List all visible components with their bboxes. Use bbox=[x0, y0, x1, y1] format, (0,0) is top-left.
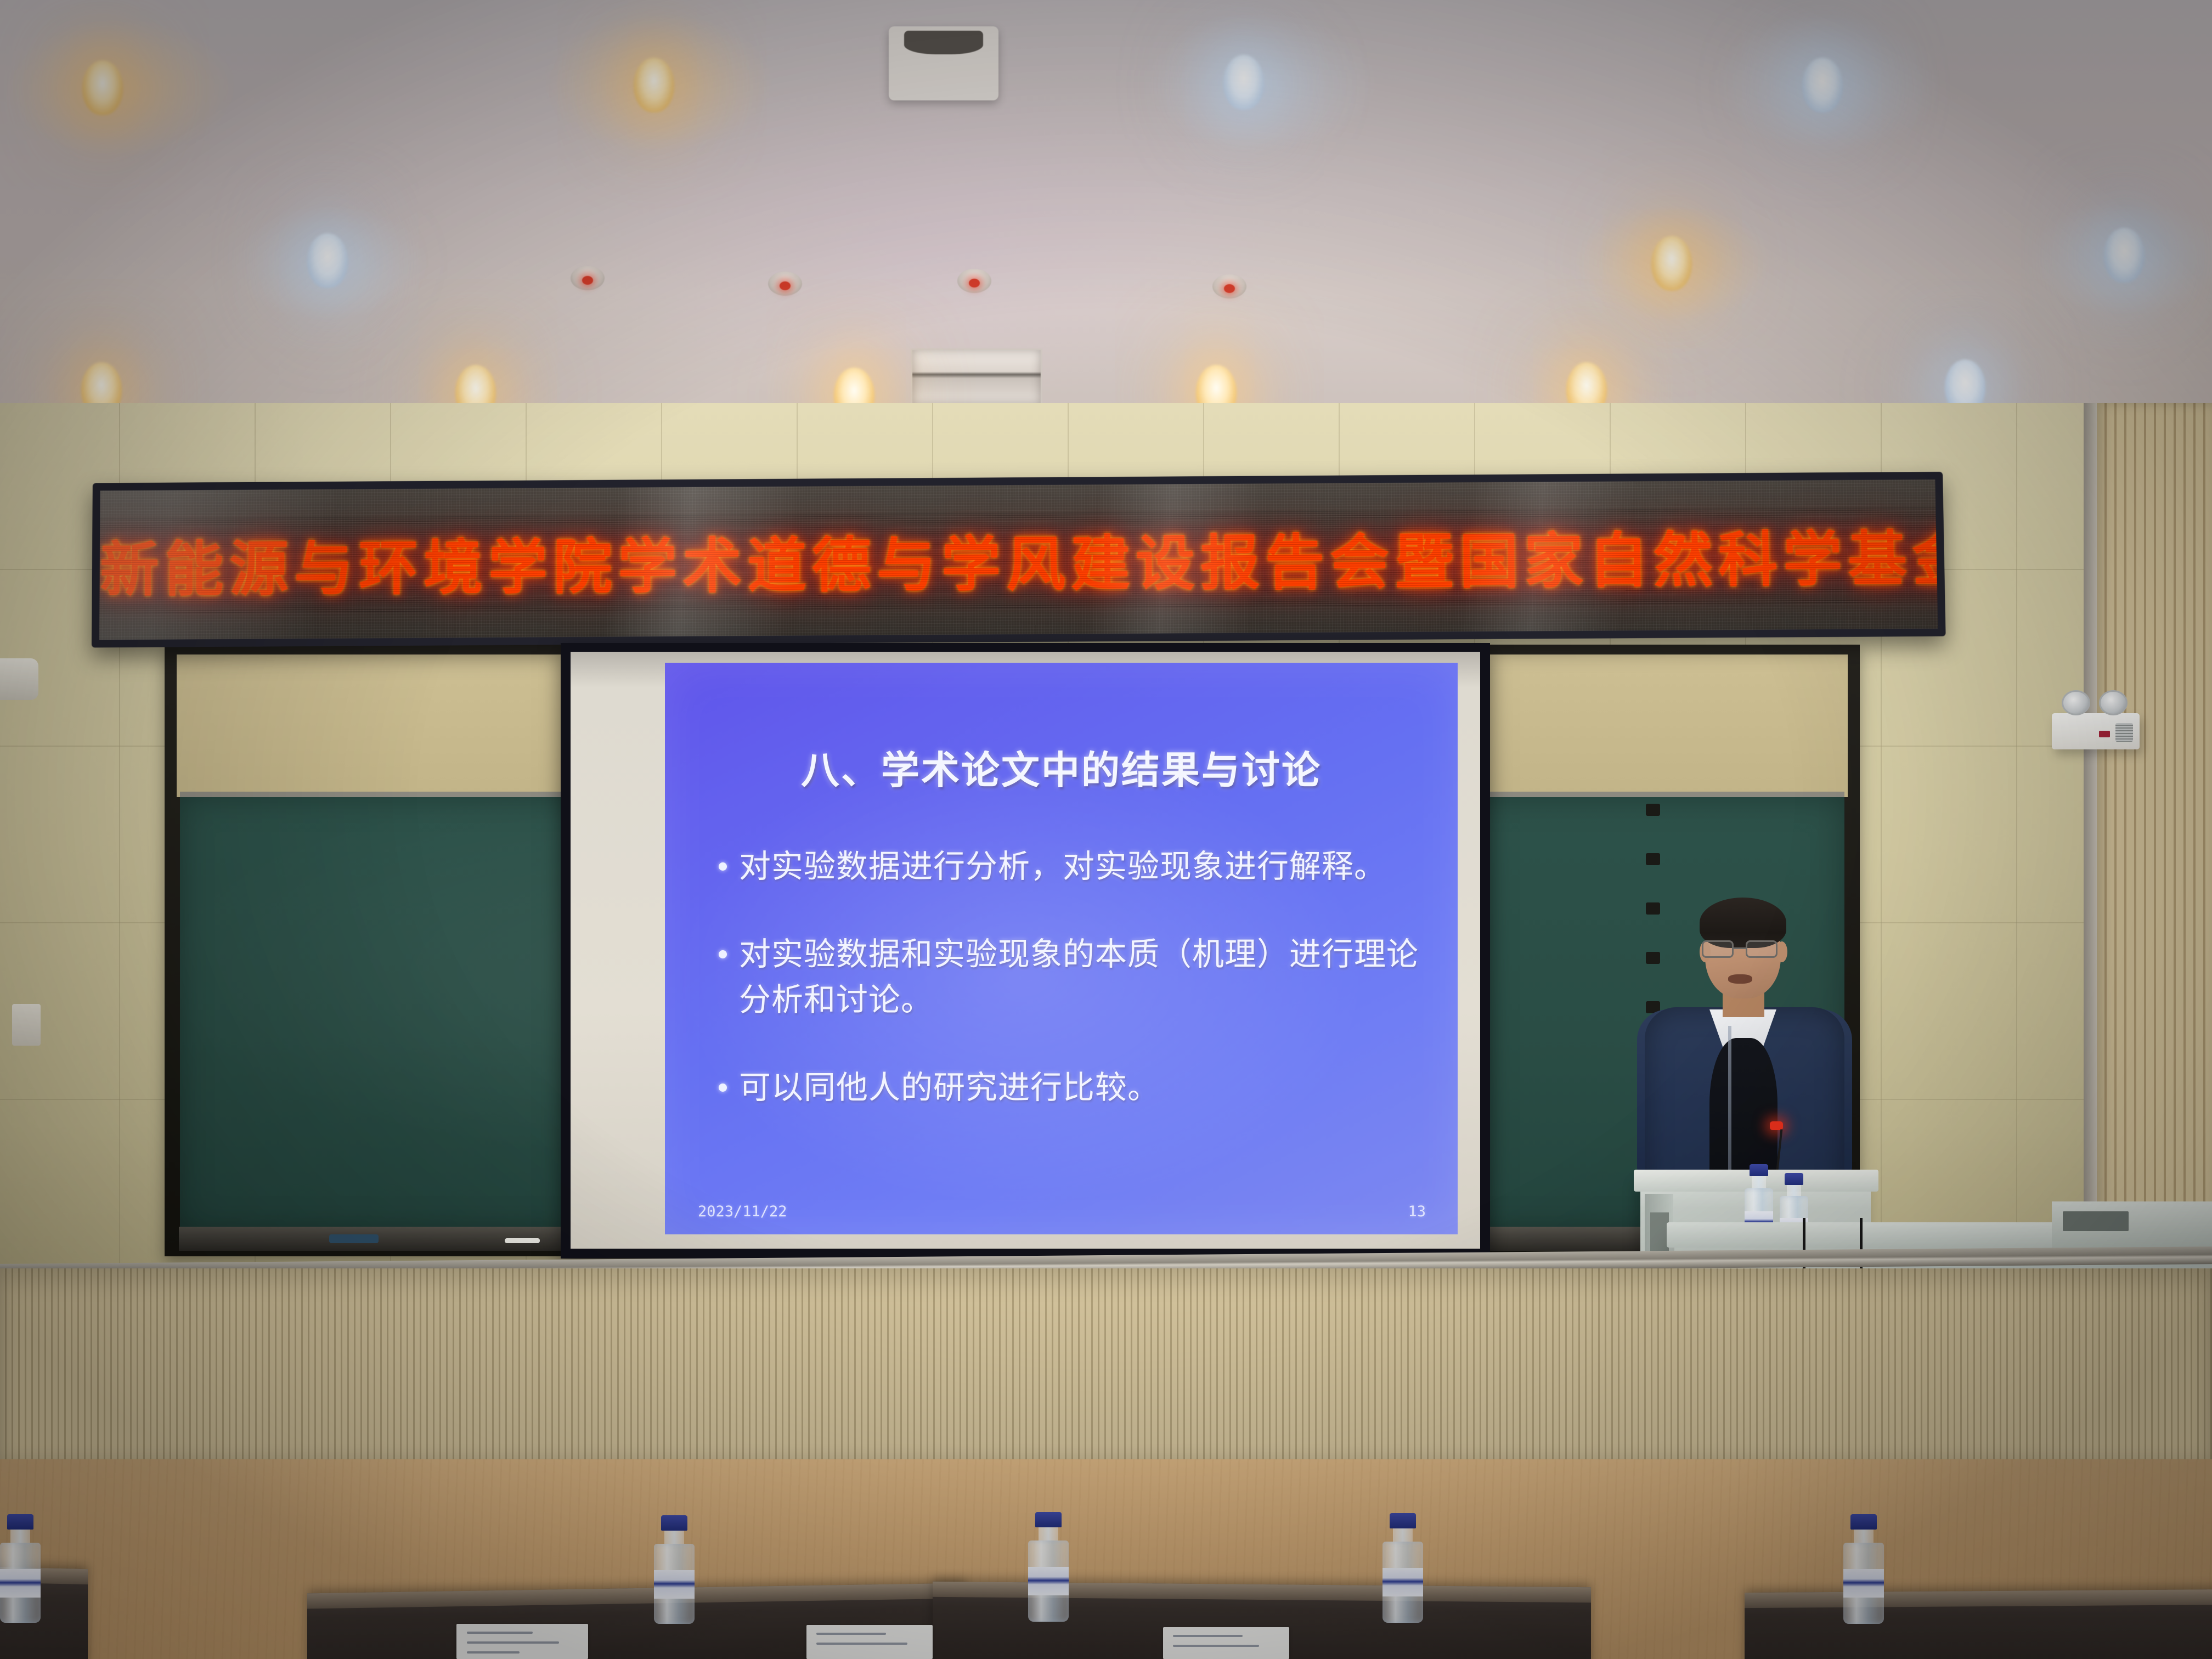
projector-sensor-box bbox=[889, 26, 998, 100]
wall-speaker bbox=[0, 658, 38, 700]
glasses-lens-right bbox=[1746, 940, 1778, 958]
slide-date: 2023/11/22 bbox=[698, 1203, 787, 1220]
glasses-bridge bbox=[1734, 947, 1746, 949]
bullet-dot-icon bbox=[719, 862, 727, 871]
paper-text-line bbox=[467, 1641, 559, 1644]
slide-title: 八、学术论文中的结果与讨论 bbox=[665, 740, 1458, 795]
bottle-neck bbox=[10, 1530, 30, 1543]
emergency-lamp-left-icon bbox=[2062, 690, 2090, 715]
bottle-cap bbox=[1785, 1173, 1803, 1185]
bottle-neck bbox=[1854, 1530, 1874, 1543]
downlight-cool bbox=[2104, 228, 2145, 283]
bottle-label bbox=[1028, 1567, 1069, 1595]
sensor-lens bbox=[904, 31, 983, 54]
led-panel-glare bbox=[99, 479, 1938, 640]
bottle-cap bbox=[1035, 1512, 1062, 1527]
chalk-eraser bbox=[329, 1234, 379, 1243]
downlight-cool bbox=[307, 233, 348, 288]
audience-desk bbox=[1745, 1589, 2212, 1659]
water-bottle bbox=[1027, 1512, 1070, 1622]
ceiling bbox=[0, 0, 2212, 407]
bottle-cap bbox=[1850, 1514, 1877, 1530]
downlight-warm bbox=[1651, 236, 1692, 291]
handout-paper bbox=[1163, 1627, 1289, 1659]
paper-text-line bbox=[1173, 1635, 1243, 1637]
led-scrolling-banner: 新能源与环境学院学术道德与学风建设报告会暨国家自然科学基金申报交流会 bbox=[92, 472, 1946, 648]
water-bottle bbox=[653, 1515, 696, 1624]
paper-text-line bbox=[816, 1643, 907, 1645]
slide-bullet-list: 对实验数据进行分析，对实验现象进行解释。 对实验数据和实验现象的本质（机理）进行… bbox=[714, 844, 1419, 1153]
bottle-neck bbox=[1393, 1528, 1413, 1542]
air-vent bbox=[911, 348, 1042, 406]
downlight-cool bbox=[1802, 58, 1843, 112]
presentation-slide: 八、学术论文中的结果与讨论 对实验数据进行分析，对实验现象进行解释。 对实验数据… bbox=[665, 663, 1458, 1234]
slide-footer: 2023/11/22 13 bbox=[698, 1203, 1426, 1220]
smoke-detector-icon bbox=[1212, 274, 1246, 298]
chalk-stick bbox=[505, 1238, 540, 1243]
list-item: 对实验数据进行分析，对实验现象进行解释。 bbox=[714, 844, 1419, 889]
smoke-detector-icon bbox=[957, 269, 991, 293]
emergency-light bbox=[2052, 713, 2140, 749]
list-item: 可以同他人的研究进行比较。 bbox=[714, 1065, 1419, 1110]
emergency-lamp-right-icon bbox=[2099, 690, 2128, 715]
downlight-cool bbox=[1223, 55, 1264, 110]
paper-text-line bbox=[816, 1633, 886, 1635]
slide-page-number: 13 bbox=[1408, 1203, 1426, 1220]
bottle-neck bbox=[1039, 1527, 1058, 1541]
bottle-label bbox=[654, 1570, 695, 1599]
downlight-warm bbox=[82, 60, 123, 115]
bottle-label bbox=[1383, 1568, 1423, 1596]
list-item: 对实验数据和实验现象的本质（机理）进行理论分析和讨论。 bbox=[714, 932, 1419, 1022]
bottle-cap bbox=[7, 1514, 33, 1530]
bottle-cap bbox=[1750, 1164, 1768, 1176]
bottle-neck bbox=[664, 1531, 684, 1544]
paper-text-line bbox=[467, 1651, 520, 1654]
bottle-cap bbox=[1390, 1513, 1416, 1528]
bottle-neck bbox=[1752, 1176, 1766, 1188]
mouth bbox=[1728, 974, 1752, 984]
bullet-dot-icon bbox=[719, 950, 727, 958]
lecture-hall-photo: 新能源与环境学院学术道德与学风建设报告会暨国家自然科学基金申报交流会 八、学术论… bbox=[0, 0, 2212, 1659]
handout-paper bbox=[456, 1624, 588, 1659]
bullet-dot-icon bbox=[719, 1084, 727, 1092]
emergency-vent-grill bbox=[2115, 723, 2133, 742]
handout-paper bbox=[806, 1625, 933, 1659]
ribbed-wood-column bbox=[2097, 403, 2212, 1278]
downlight-warm bbox=[634, 58, 674, 112]
wall-outlet-plate bbox=[12, 1004, 41, 1046]
bottle-label bbox=[0, 1569, 41, 1598]
glasses-lens-left bbox=[1702, 940, 1734, 958]
desk-edge bbox=[1745, 1589, 2212, 1608]
paper-text-line bbox=[1173, 1645, 1259, 1647]
emergency-status-led bbox=[2099, 731, 2110, 737]
projection-screen: 八、学术论文中的结果与讨论 对实验数据进行分析，对实验现象进行解释。 对实验数据… bbox=[561, 643, 1490, 1259]
water-bottle bbox=[0, 1514, 42, 1623]
smoke-detector-icon bbox=[768, 272, 802, 296]
bottle-cap bbox=[661, 1515, 687, 1531]
slide-bullet-text: 可以同他人的研究进行比较。 bbox=[739, 1065, 1160, 1110]
slide-bullet-text: 对实验数据和实验现象的本质（机理）进行理论分析和讨论。 bbox=[739, 932, 1419, 1022]
bottle-label bbox=[1843, 1569, 1884, 1598]
stage-front-panel bbox=[0, 1268, 2212, 1466]
slide-bullet-text: 对实验数据进行分析，对实验现象进行解释。 bbox=[739, 844, 1386, 889]
bottle-neck bbox=[1787, 1185, 1801, 1196]
side-equipment-slot bbox=[2063, 1211, 2129, 1231]
eyeglasses-icon bbox=[1702, 940, 1785, 959]
paper-text-line bbox=[467, 1632, 533, 1634]
water-bottle bbox=[1842, 1514, 1885, 1624]
smoke-detector-icon bbox=[571, 266, 605, 290]
water-bottle bbox=[1381, 1513, 1424, 1623]
